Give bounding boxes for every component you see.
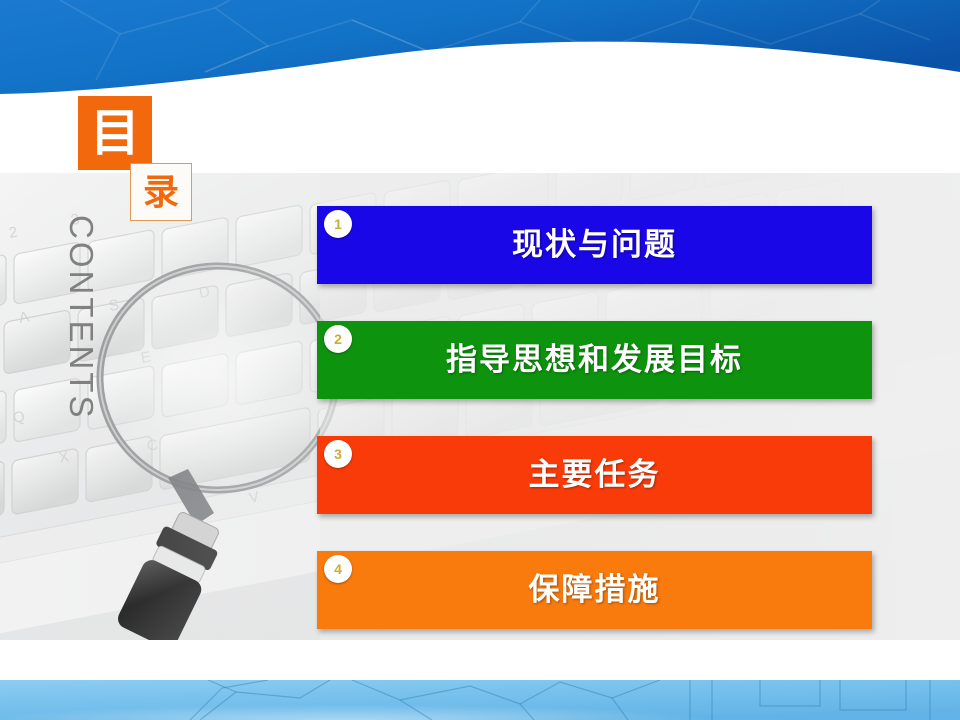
toc-item-1[interactable]: 1 现状与问题 [317,206,872,284]
toc-label-1: 现状与问题 [317,206,872,284]
contents-english-label: CONTENTS [60,215,100,445]
presentation-slide: 2 3 4 A S D Q X C V E [0,0,960,720]
toc-item-2[interactable]: 2 指导思想和发展目标 [317,321,872,399]
toc-number-badge-4: 4 [324,555,352,583]
contents-char-lu: 录 [130,163,192,221]
toc-label-3: 主要任务 [317,436,872,514]
footer-blue-band [0,680,960,720]
toc-label-4: 保障措施 [317,551,872,629]
toc-number-badge-2: 2 [324,325,352,353]
header-blue-wave [0,0,960,110]
table-of-contents-list: 1 现状与问题 2 指导思想和发展目标 3 主要任务 4 保障措施 [317,206,872,629]
toc-label-2: 指导思想和发展目标 [317,321,872,399]
contents-char-mu: 目 [78,96,152,170]
toc-number-badge-3: 3 [324,440,352,468]
toc-number-badge-1: 1 [324,210,352,238]
toc-item-3[interactable]: 3 主要任务 [317,436,872,514]
toc-item-4[interactable]: 4 保障措施 [317,551,872,629]
